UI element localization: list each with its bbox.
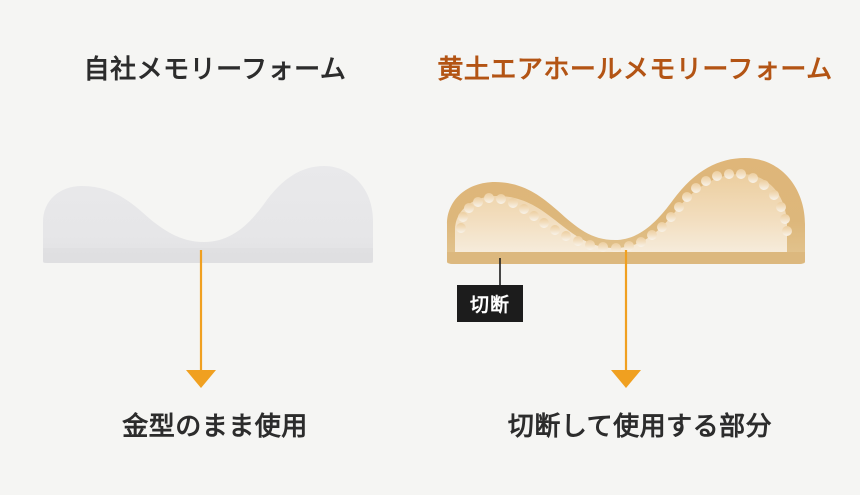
right-panel-caption: 切断して使用する部分 xyxy=(420,413,860,439)
down-arrow-right xyxy=(610,250,642,388)
left-panel-title: 自社メモリーフォーム xyxy=(0,56,430,82)
down-arrow-left xyxy=(185,250,217,388)
cut-label-leader-line xyxy=(494,258,506,288)
down-arrow-left-icon xyxy=(185,250,217,388)
down-arrow-right-icon xyxy=(610,250,642,388)
left-panel-caption: 金型のまま使用 xyxy=(0,413,430,439)
right-panel-title: 黄土エアホールメモリーフォーム xyxy=(410,56,860,82)
cut-label-badge: 切断 xyxy=(457,285,523,322)
diagram-canvas: 自社メモリーフォーム 黄土エアホールメモリーフォーム xyxy=(0,0,860,495)
